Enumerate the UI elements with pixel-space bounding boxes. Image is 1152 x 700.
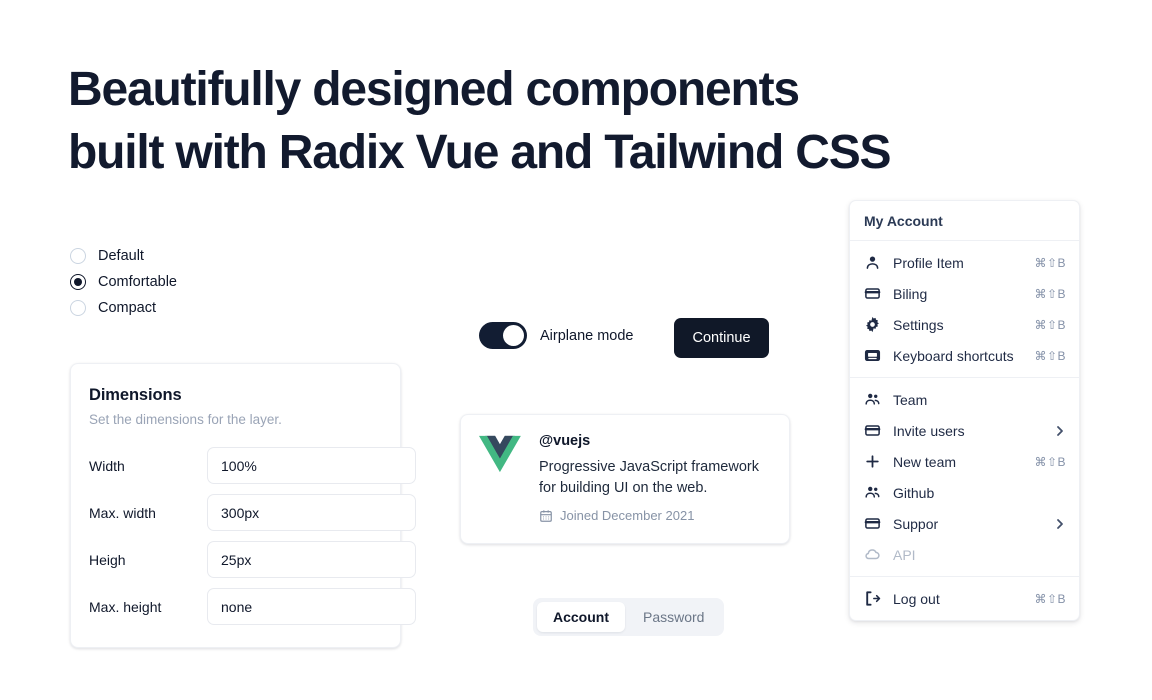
- menu-item-label: New team: [893, 454, 1022, 470]
- tab-password[interactable]: Password: [627, 602, 720, 632]
- menu-item-shortcut: ⌘⇧B: [1034, 592, 1066, 606]
- radio-option-default[interactable]: Default: [70, 248, 177, 264]
- menu-group: TeamInvite usersNew team⌘⇧BGithubSupporA…: [850, 378, 1079, 576]
- logout-icon: [864, 590, 881, 607]
- menu-item-profile-item[interactable]: Profile Item⌘⇧B: [850, 247, 1079, 278]
- users-icon-wrap: [864, 391, 881, 408]
- credit-card-icon-wrap: [864, 515, 881, 532]
- airplane-mode-switch[interactable]: [479, 322, 527, 349]
- menu-item-github[interactable]: Github: [850, 477, 1079, 508]
- dimension-label-max-width: Max. width: [89, 505, 207, 521]
- radio-indicator[interactable]: [70, 300, 86, 316]
- credit-card-icon: [864, 285, 881, 302]
- menu-item-api: API: [850, 539, 1079, 570]
- users-icon: [864, 391, 881, 408]
- menu-item-settings[interactable]: Settings⌘⇧B: [850, 309, 1079, 340]
- vuejs-joined-row: Joined December 2021: [539, 508, 769, 523]
- menu-item-team[interactable]: Team: [850, 384, 1079, 415]
- users-icon-wrap: [864, 484, 881, 501]
- page-title: Beautifully designed components built wi…: [68, 58, 1028, 184]
- menu-item-shortcut: ⌘⇧B: [1034, 256, 1066, 270]
- menu-group: Log out⌘⇧B: [850, 577, 1079, 620]
- keyboard-icon-wrap: [864, 347, 881, 364]
- calendar-icon: [539, 509, 553, 523]
- dimension-row: Max. width: [89, 494, 380, 531]
- menu-item-suppor[interactable]: Suppor: [850, 508, 1079, 539]
- users-icon: [864, 484, 881, 501]
- dimension-label-heigh: Heigh: [89, 552, 207, 568]
- menu-group: Profile Item⌘⇧BBiling⌘⇧BSettings⌘⇧BKeybo…: [850, 241, 1079, 377]
- menu-item-log-out[interactable]: Log out⌘⇧B: [850, 583, 1079, 614]
- menu-item-shortcut: ⌘⇧B: [1034, 318, 1066, 332]
- user-icon-wrap: [864, 254, 881, 271]
- radio-label: Comfortable: [98, 275, 177, 290]
- radio-label: Compact: [98, 301, 156, 316]
- tabs: AccountPassword: [533, 598, 724, 636]
- menu-item-label: Biling: [893, 286, 1022, 302]
- continue-button[interactable]: Continue: [674, 318, 769, 358]
- menu-item-label: Invite users: [893, 423, 1042, 439]
- airplane-mode-row: Airplane mode: [479, 322, 634, 349]
- tab-account[interactable]: Account: [537, 602, 625, 632]
- menu-item-shortcut: ⌘⇧B: [1034, 287, 1066, 301]
- airplane-mode-label: Airplane mode: [540, 328, 634, 344]
- dimensions-title: Dimensions: [89, 386, 380, 405]
- chevron-right-icon: [1054, 518, 1066, 530]
- vuejs-handle: @vuejs: [539, 433, 769, 449]
- menu-groups: Profile Item⌘⇧BBiling⌘⇧BSettings⌘⇧BKeybo…: [850, 241, 1079, 620]
- credit-card-icon: [864, 422, 881, 439]
- gear-icon: [864, 316, 881, 333]
- switch-knob: [503, 325, 524, 346]
- menu-item-biling[interactable]: Biling⌘⇧B: [850, 278, 1079, 309]
- credit-card-icon-wrap: [864, 285, 881, 302]
- dimension-row: Width: [89, 447, 380, 484]
- radio-option-compact[interactable]: Compact: [70, 300, 177, 316]
- gear-icon-wrap: [864, 316, 881, 333]
- chevron-right-icon: [1054, 425, 1066, 437]
- page-title-line-1: Beautifully designed components: [68, 58, 1028, 121]
- radio-indicator[interactable]: [70, 248, 86, 264]
- menu-item-keyboard-shortcuts[interactable]: Keyboard shortcuts⌘⇧B: [850, 340, 1079, 371]
- radio-label: Default: [98, 249, 144, 264]
- menu-item-shortcut: ⌘⇧B: [1034, 349, 1066, 363]
- menu-item-label: API: [893, 547, 1066, 563]
- menu-item-label: Keyboard shortcuts: [893, 348, 1022, 364]
- dimension-input-max-width[interactable]: [207, 494, 416, 531]
- menu-item-label: Log out: [893, 591, 1022, 607]
- plus-icon-wrap: [864, 453, 881, 470]
- dimension-row: Max. height: [89, 588, 380, 625]
- dimensions-subtitle: Set the dimensions for the layer.: [89, 412, 380, 427]
- user-icon: [864, 254, 881, 271]
- logout-icon-wrap: [864, 590, 881, 607]
- dimension-label-width: Width: [89, 458, 207, 474]
- page-title-line-2: built with Radix Vue and Tailwind CSS: [68, 121, 1028, 184]
- dimension-input-width[interactable]: [207, 447, 416, 484]
- radio-option-comfortable[interactable]: Comfortable: [70, 274, 177, 290]
- vuejs-description: Progressive JavaScript framework for bui…: [539, 457, 769, 499]
- vuejs-hover-card: @vuejs Progressive JavaScript framework …: [460, 414, 790, 544]
- dimension-label-max-height: Max. height: [89, 599, 207, 615]
- menu-item-new-team[interactable]: New team⌘⇧B: [850, 446, 1079, 477]
- cloud-icon-wrap: [864, 546, 881, 563]
- menu-item-label: Team: [893, 392, 1066, 408]
- menu-item-shortcut: ⌘⇧B: [1034, 455, 1066, 469]
- menu-item-label: Github: [893, 485, 1066, 501]
- menu-header: My Account: [850, 201, 1079, 240]
- vuejs-joined-text: Joined December 2021: [560, 508, 694, 523]
- menu-item-invite-users[interactable]: Invite users: [850, 415, 1079, 446]
- radio-indicator[interactable]: [70, 274, 86, 290]
- credit-card-icon-wrap: [864, 422, 881, 439]
- account-dropdown-menu: My Account Profile Item⌘⇧BBiling⌘⇧BSetti…: [849, 200, 1080, 621]
- dimensions-field-list: WidthMax. widthHeighMax. height: [89, 447, 380, 625]
- dimension-input-heigh[interactable]: [207, 541, 416, 578]
- dimensions-card: Dimensions Set the dimensions for the la…: [70, 363, 401, 648]
- credit-card-icon: [864, 515, 881, 532]
- keyboard-icon: [864, 347, 881, 364]
- radio-group[interactable]: DefaultComfortableCompact: [70, 248, 177, 316]
- page-root: Beautifully designed components built wi…: [0, 0, 1152, 700]
- dimension-input-max-height[interactable]: [207, 588, 416, 625]
- menu-item-label: Settings: [893, 317, 1022, 333]
- cloud-icon: [864, 546, 881, 563]
- vue-logo-icon: [479, 435, 521, 473]
- menu-item-label: Suppor: [893, 516, 1042, 532]
- plus-icon: [864, 453, 881, 470]
- dimension-row: Heigh: [89, 541, 380, 578]
- hover-card-body: @vuejs Progressive JavaScript framework …: [539, 433, 769, 523]
- menu-item-label: Profile Item: [893, 255, 1022, 271]
